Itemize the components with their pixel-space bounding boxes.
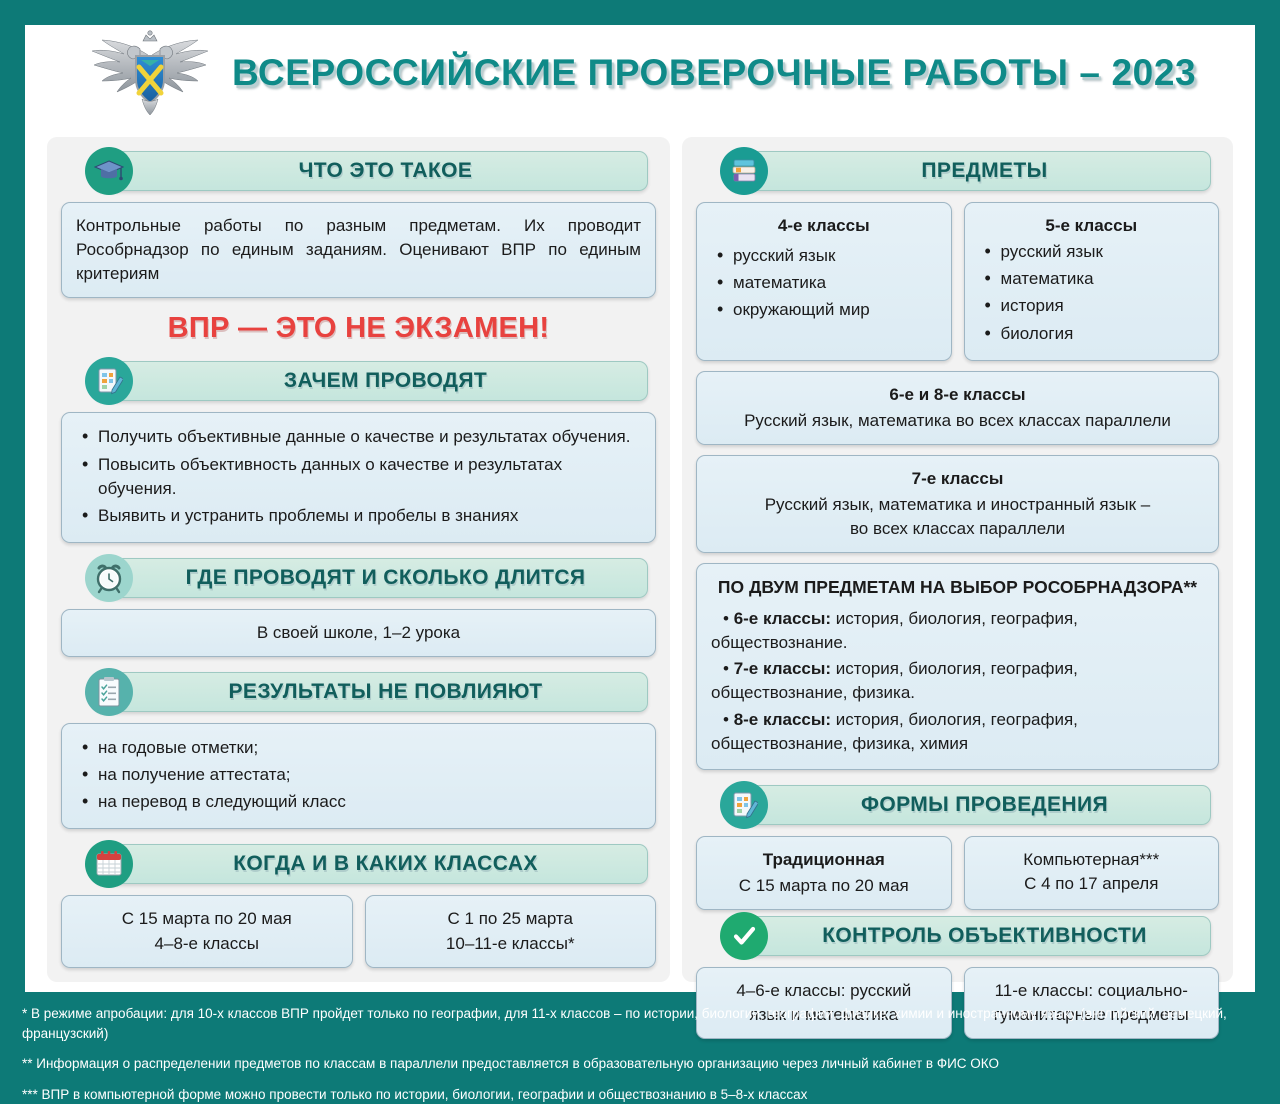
list-item: • 6-е классы: история, биология, географ… [711, 607, 1204, 655]
what-is-it-text: Контрольные работы по разным предметам. … [76, 216, 641, 283]
when-cards: С 15 марта по 20 мая 4–8-е классы С 1 по… [61, 895, 656, 967]
forms-cards: Традиционная С 15 марта по 20 мая Компью… [696, 836, 1219, 910]
not-an-exam-banner: ВПР — ЭТО НЕ ЭКЗАМЕН! [61, 312, 656, 345]
checklist-icon [85, 668, 133, 716]
section-forms: ФОРМЫ ПРОВЕДЕНИЯ [696, 783, 1219, 827]
grade5-card: 5-е классы русский язык математика истор… [964, 202, 1220, 361]
form-card: Компьютерная*** С 4 по 17 апреля [964, 836, 1220, 910]
grade7-line2: во всех классах параллели [711, 517, 1204, 541]
subjects-grade-cards: 4-е классы русский язык математика окруж… [696, 202, 1219, 361]
list-item: Выявить и устранить проблемы и пробелы в… [76, 504, 641, 528]
grade68-body: Русский язык, математика во всех классах… [711, 409, 1204, 433]
list-item: русский язык [979, 240, 1205, 264]
form-card-line1: Компьютерная*** [979, 848, 1205, 872]
section-header-bar: КОНТРОЛЬ ОБЪЕКТИВНОСТИ [730, 916, 1211, 956]
when-card-line2: 4–8-е классы [76, 932, 338, 956]
form-card: Традиционная С 15 марта по 20 мая [696, 836, 952, 910]
section-header-bar: ГДЕ ПРОВОДЯТ И СКОЛЬКО ДЛИТСЯ [95, 558, 648, 598]
section-header-bar: ФОРМЫ ПРОВЕДЕНИЯ [730, 785, 1211, 825]
choice-grade: 6-е классы: [734, 609, 831, 628]
grade4-card: 4-е классы русский язык математика окруж… [696, 202, 952, 361]
list-item: на получение аттестата; [76, 763, 641, 787]
list-item: история [979, 294, 1205, 318]
header: ВСЕРОССИЙСКИЕ ПРОВЕРОЧНЫЕ РАБОТЫ – 2023 [25, 25, 1255, 121]
check-circle-icon [720, 912, 768, 960]
list-item: на годовые отметки; [76, 736, 641, 760]
list-item: • 8-е классы: история, биология, географ… [711, 708, 1204, 756]
choice-grade: 7-е классы: [734, 659, 831, 678]
right-column: ПРЕДМЕТЫ 4-е классы [682, 137, 1233, 982]
form-card-line2: С 15 марта по 20 мая [711, 874, 937, 898]
section-header-bar: РЕЗУЛЬТАТЫ НЕ ПОВЛИЯЮТ [95, 672, 648, 712]
section-objectivity: КОНТРОЛЬ ОБЪЕКТИВНОСТИ [696, 914, 1219, 958]
section-header-bar: ПРЕДМЕТЫ [730, 151, 1211, 191]
section-title: КОНТРОЛЬ ОБЪЕКТИВНОСТИ [794, 924, 1147, 948]
section-title: ЗАЧЕМ ПРОВОДЯТ [256, 369, 487, 393]
objectivity-card-line1: 11-е классы: социально- [979, 979, 1205, 1003]
section-title: КОГДА И В КАКИХ КЛАССАХ [205, 852, 538, 876]
footnotes: * В режиме апробации: для 10-х классов В… [22, 1004, 1262, 1104]
choice-list: • 6-е классы: история, биология, географ… [711, 607, 1204, 756]
footnote-3: *** ВПР в компьютерной форме можно прове… [22, 1085, 1262, 1104]
section-what-is-it: ЧТО ЭТО ТАКОЕ [61, 149, 656, 193]
grade68-title: 6-е и 8-е классы [711, 383, 1204, 407]
section-header-bar: ЧТО ЭТО ТАКОЕ [95, 151, 648, 191]
when-card-line1: С 15 марта по 20 мая [76, 907, 338, 931]
list-item: Получить объективные данные о качестве и… [76, 425, 641, 449]
section-title: ГДЕ ПРОВОДЯТ И СКОЛЬКО ДЛИТСЯ [158, 566, 586, 590]
why-list: Получить объективные данные о качестве и… [76, 425, 641, 528]
section-when: КОГДА И В КАКИХ КЛАССАХ [61, 842, 656, 886]
graduation-cap-icon [85, 147, 133, 195]
section-results: РЕЗУЛЬТАТЫ НЕ ПОВЛИЯЮТ [61, 670, 656, 714]
section-title: ФОРМЫ ПРОВЕДЕНИЯ [833, 793, 1108, 817]
form-card-line1: Традиционная [711, 848, 937, 872]
grade7-card: 7-е классы Русский язык, математика и ин… [696, 455, 1219, 553]
footnote-1: * В режиме апробации: для 10-х классов В… [22, 1004, 1262, 1043]
section-subjects: ПРЕДМЕТЫ [696, 149, 1219, 193]
list-item: на перевод в следующий класс [76, 790, 641, 814]
grade7-title: 7-е классы [711, 467, 1204, 491]
page-title: ВСЕРОССИЙСКИЕ ПРОВЕРОЧНЫЕ РАБОТЫ – 2023 [232, 52, 1196, 94]
list-item: русский язык [711, 244, 937, 268]
section-title: ПРЕДМЕТЫ [893, 159, 1047, 183]
when-card: С 15 марта по 20 мая 4–8-е классы [61, 895, 353, 967]
grade4-title: 4-е классы [711, 214, 937, 238]
footnote-2: ** Информация о распределении предметов … [22, 1054, 1262, 1074]
infographic-page: ВСЕРОССИЙСКИЕ ПРОВЕРОЧНЫЕ РАБОТЫ – 2023 … [0, 0, 1280, 1103]
section-why: ЗАЧЕМ ПРОВОДЯТ [61, 359, 656, 403]
where-card: В своей школе, 1–2 урока [61, 609, 656, 657]
rosobrnadzor-crest-icon [80, 29, 220, 117]
white-sheet: ВСЕРОССИЙСКИЕ ПРОВЕРОЧНЫЕ РАБОТЫ – 2023 … [25, 25, 1255, 992]
grade7-line1: Русский язык, математика и иностранный я… [711, 493, 1204, 517]
section-where: ГДЕ ПРОВОДЯТ И СКОЛЬКО ДЛИТСЯ [61, 556, 656, 600]
results-card: на годовые отметки; на получение аттеста… [61, 723, 656, 829]
section-title: РЕЗУЛЬТАТЫ НЕ ПОВЛИЯЮТ [201, 680, 543, 704]
choice-grade: 8-е классы: [734, 710, 831, 729]
results-list: на годовые отметки; на получение аттеста… [76, 736, 641, 814]
alarm-clock-icon [85, 554, 133, 602]
list-item: окружающий мир [711, 298, 937, 322]
list-item: Повысить объективность данных о качестве… [76, 453, 641, 501]
section-title: ЧТО ЭТО ТАКОЕ [271, 159, 473, 183]
list-item: • 7-е классы: история, биология, географ… [711, 657, 1204, 705]
why-card: Получить объективные данные о качестве и… [61, 412, 656, 543]
grade68-card: 6-е и 8-е классы Русский язык, математик… [696, 371, 1219, 445]
when-card-line1: С 1 по 25 марта [380, 907, 642, 931]
choice-subjects-card: ПО ДВУМ ПРЕДМЕТАМ НА ВЫБОР РОСОБРНАДЗОРА… [696, 563, 1219, 770]
books-icon [720, 147, 768, 195]
grade5-title: 5-е классы [979, 214, 1205, 238]
choice-title: ПО ДВУМ ПРЕДМЕТАМ НА ВЫБОР РОСОБРНАДЗОРА… [711, 575, 1204, 600]
grade5-list: русский язык математика история биология [979, 240, 1205, 346]
list-item: математика [979, 267, 1205, 291]
grade4-list: русский язык математика окружающий мир [711, 244, 937, 322]
objectivity-card-line1: 4–6-е классы: русский [711, 979, 937, 1003]
where-text: В своей школе, 1–2 урока [257, 623, 460, 642]
when-card: С 1 по 25 марта 10–11-е классы* [365, 895, 657, 967]
section-header-bar: КОГДА И В КАКИХ КЛАССАХ [95, 844, 648, 884]
content-columns: ЧТО ЭТО ТАКОЕ Контрольные работы по ра [47, 137, 1233, 982]
when-card-line2: 10–11-е классы* [380, 932, 642, 956]
what-is-it-card: Контрольные работы по разным предметам. … [61, 202, 656, 298]
list-item: биология [979, 322, 1205, 346]
list-item: математика [711, 271, 937, 295]
document-pencil-icon [720, 781, 768, 829]
section-header-bar: ЗАЧЕМ ПРОВОДЯТ [95, 361, 648, 401]
left-column: ЧТО ЭТО ТАКОЕ Контрольные работы по ра [47, 137, 670, 982]
form-card-line2: С 4 по 17 апреля [979, 872, 1205, 896]
